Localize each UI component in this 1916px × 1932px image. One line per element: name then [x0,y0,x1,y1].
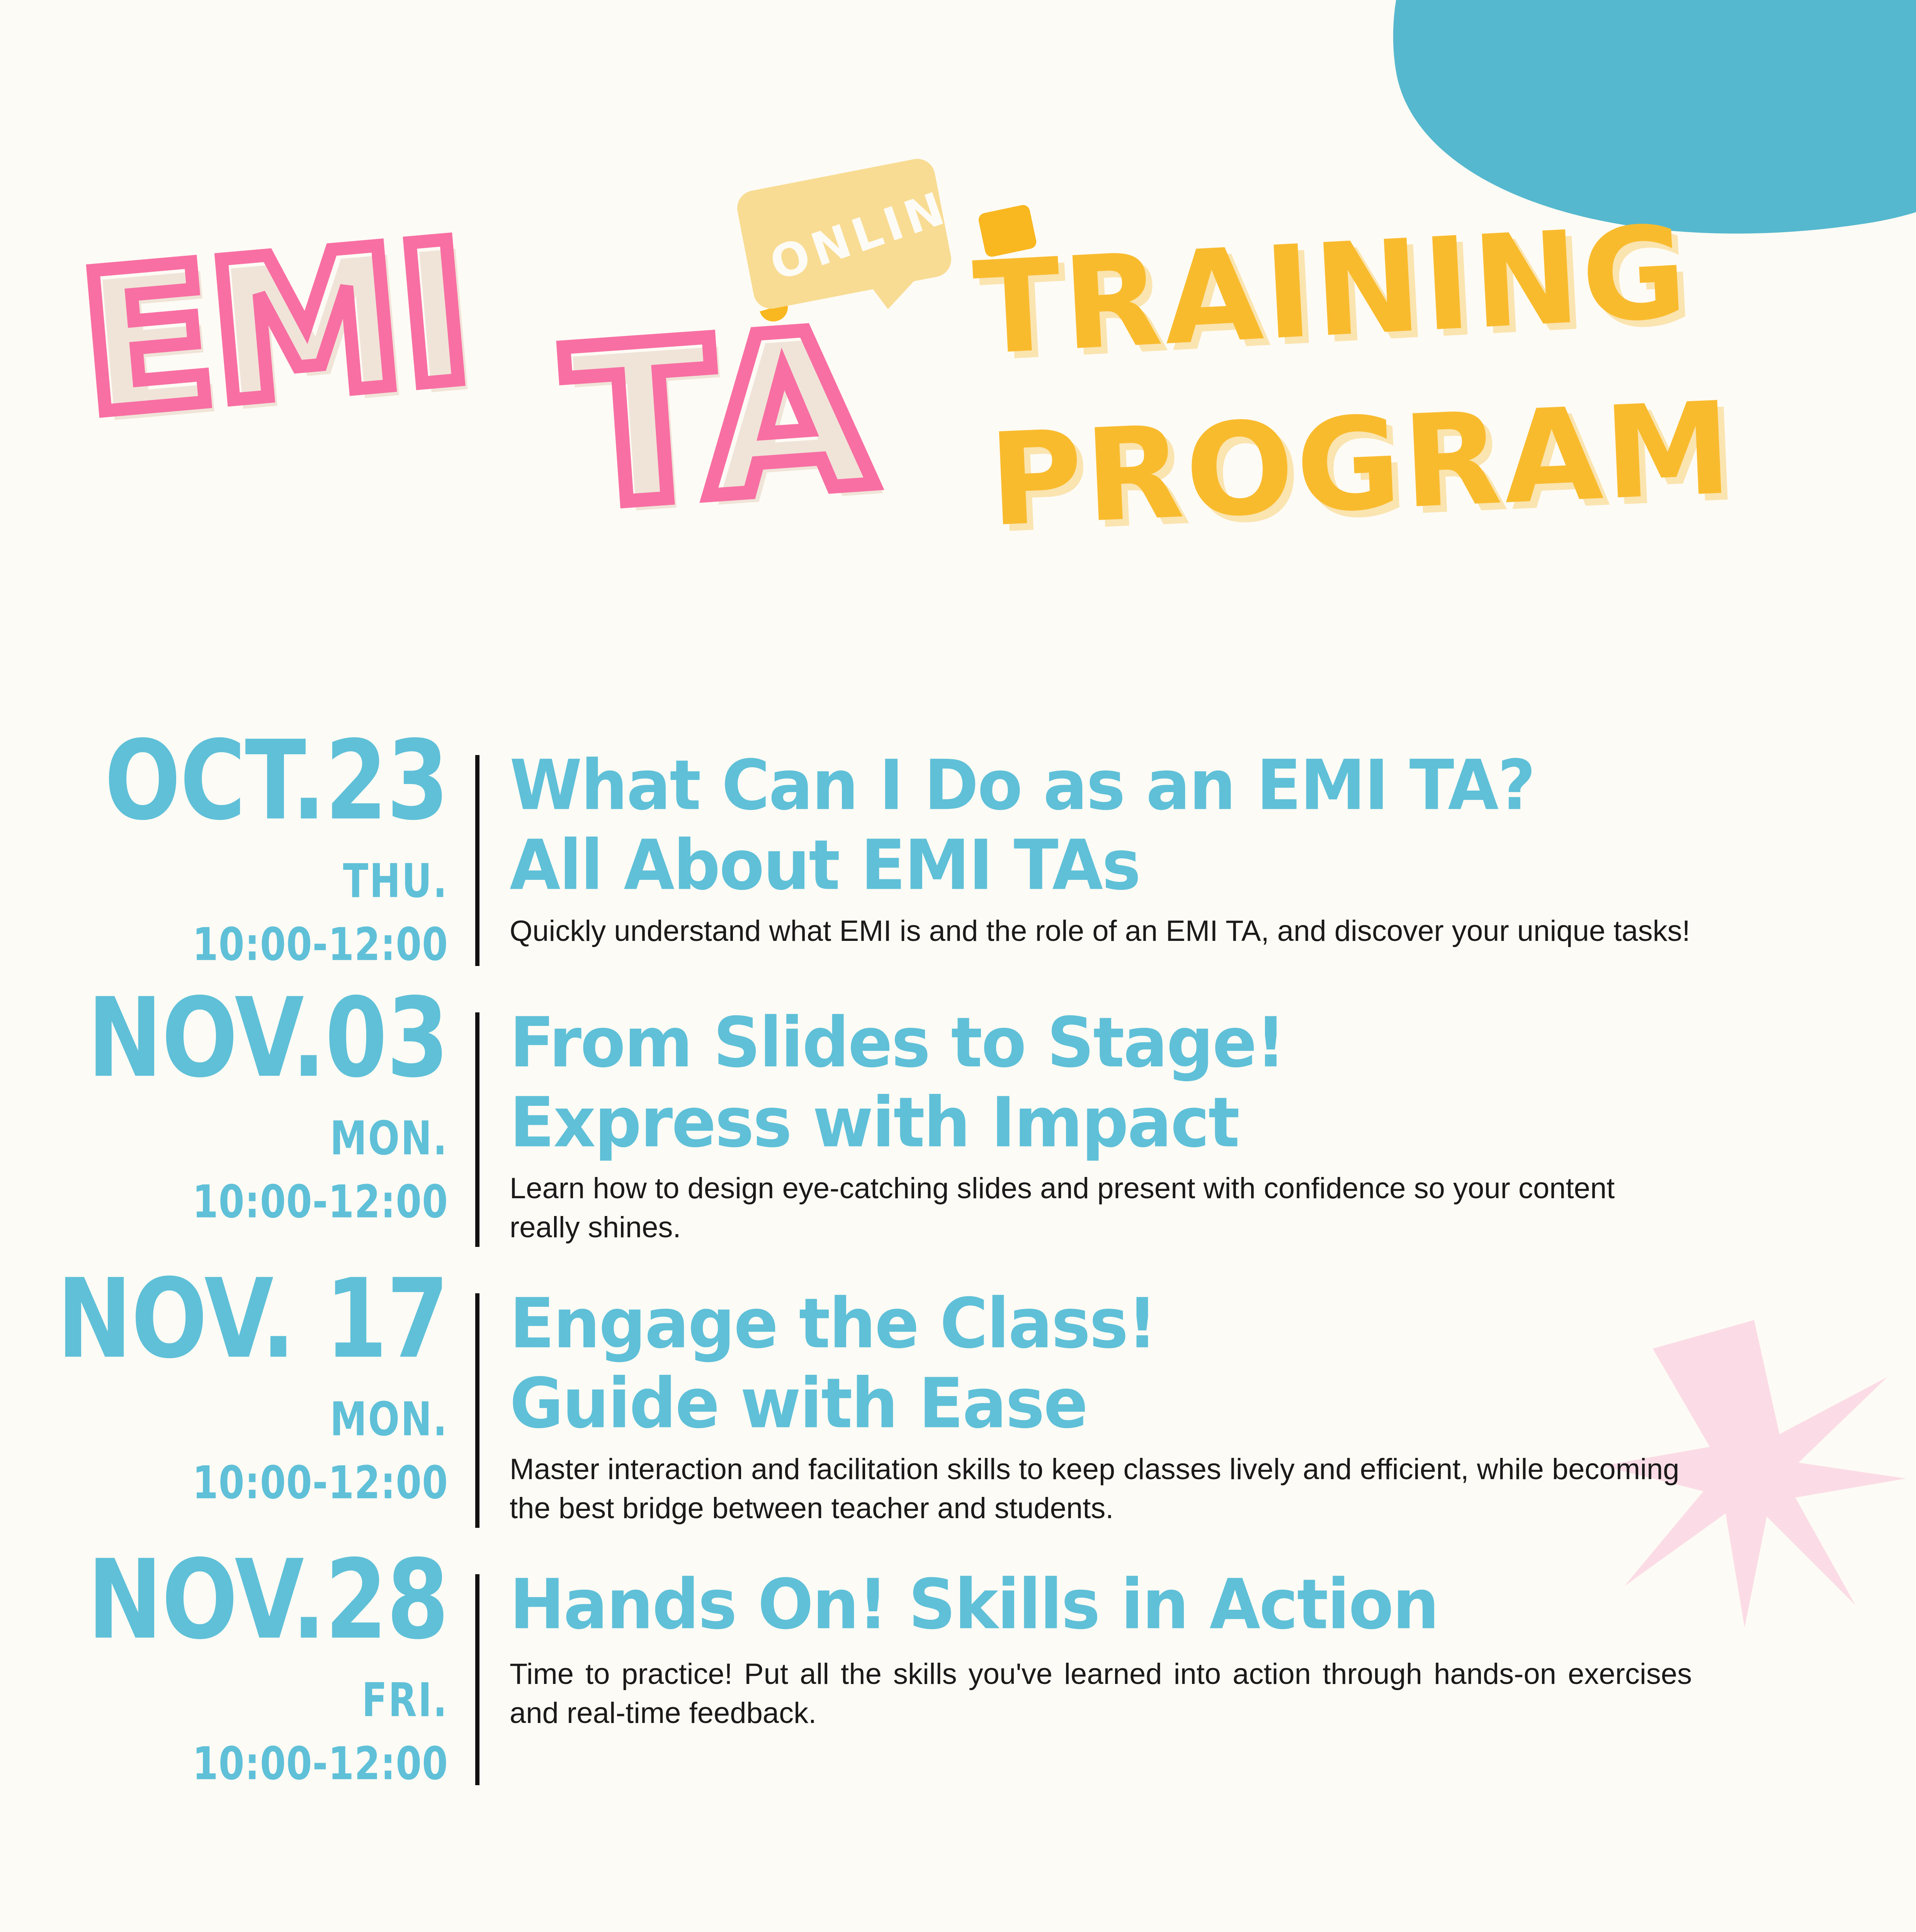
title-word-program: PROGRAM [986,374,1737,555]
session-weekday: MON. [0,1111,448,1165]
session-date-column: NOV. 17 MON. 10:00-12:00 [0,1284,475,1528]
session-weekday: THU. [0,854,448,908]
session-time: 10:00-12:00 [0,918,448,971]
session-description: Time to practice! Put all the skills you… [510,1655,1692,1733]
session-date: NOV. 17 [0,1264,448,1374]
online-badge: ONLINE [734,156,954,312]
online-badge-label: ONLINE [763,169,989,291]
session-divider-rule [475,1574,479,1785]
session-schedule-list: OCT.23 THU. 10:00-12:00 What Can I Do as… [0,746,1916,1822]
session-date-column: OCT.23 THU. 10:00-12:00 [0,746,475,966]
session-date: NOV.28 [0,1545,448,1655]
session-time: 10:00-12:00 [0,1456,448,1509]
poster-title-block: EMI EMI TA TRAINING PROGRAM ONLINE [0,0,1916,638]
session-title: Hands On! Skills in Action [510,1565,1870,1645]
session-date: NOV.03 [0,983,448,1093]
session-row: NOV.28 FRI. 10:00-12:00 Hands On! Skills… [0,1565,1916,1785]
session-weekday: FRI. [0,1673,448,1727]
session-description: Quickly understand what EMI is and the r… [510,912,1692,951]
session-date: OCT.23 [0,726,448,835]
session-title: What Can I Do as an EMI TA? All About EM… [510,746,1870,906]
session-row: NOV. 17 MON. 10:00-12:00 Engage the Clas… [0,1284,1916,1528]
session-title: Engage the Class! Guide with Ease [510,1284,1870,1444]
session-row: NOV.03 MON. 10:00-12:00 From Slides to S… [0,1003,1916,1247]
poster-canvas: EMI EMI TA TRAINING PROGRAM ONLINE OCT.2… [0,0,1916,1932]
session-divider-rule [475,1293,479,1528]
title-word-ta: TA [559,283,882,556]
session-content: Hands On! Skills in Action Time to pract… [479,1565,1916,1785]
session-divider-rule [475,1012,479,1247]
session-description: Learn how to design eye-catching slides … [510,1169,1692,1247]
session-divider-rule [475,755,479,966]
session-content: What Can I Do as an EMI TA? All About EM… [479,746,1916,966]
session-time: 10:00-12:00 [0,1737,448,1790]
session-description: Master interaction and facilitation skil… [510,1450,1692,1528]
session-time: 10:00-12:00 [0,1175,448,1228]
title-word-emi: EMI [72,200,477,457]
session-date-column: NOV.28 FRI. 10:00-12:00 [0,1565,475,1785]
session-date-column: NOV.03 MON. 10:00-12:00 [0,1003,475,1247]
session-title: From Slides to Stage! Express with Impac… [510,1003,1870,1163]
session-content: From Slides to Stage! Express with Impac… [479,1003,1916,1247]
session-weekday: MON. [0,1392,448,1446]
session-content: Engage the Class! Guide with Ease Master… [479,1284,1916,1528]
session-row: OCT.23 THU. 10:00-12:00 What Can I Do as… [0,746,1916,966]
title-word-training: TRAINING [970,198,1692,383]
